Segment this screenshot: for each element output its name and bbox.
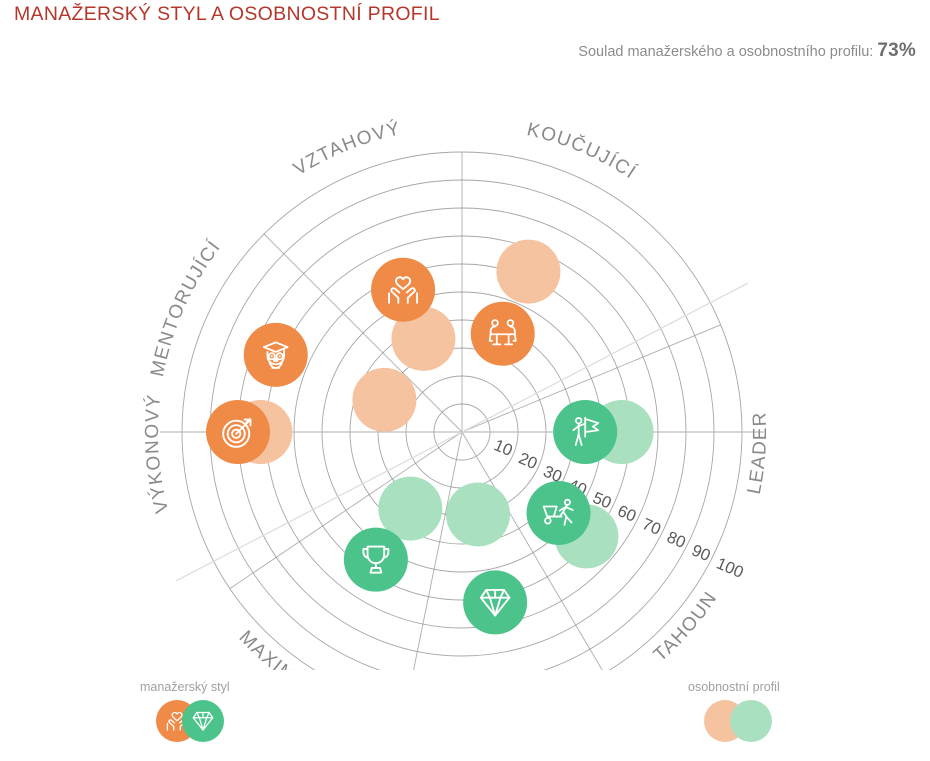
personality-bubble-mentorujc[interactable]	[352, 368, 416, 432]
legend-swatch-personality-green	[730, 700, 772, 742]
managerial-bubble-vkonov[interactable]	[206, 400, 270, 464]
bubble-disc	[527, 481, 591, 545]
radar-axis-label-vztahov: VZTAHOVÝ	[290, 118, 403, 180]
bubble-disc	[344, 528, 408, 592]
managerial-bubble-leader[interactable]	[553, 400, 617, 464]
radar-axis-label-maximalista: MAXIMALISTA	[235, 627, 361, 670]
legend-managerial-swatches	[140, 700, 230, 744]
radar-tick-60: 60	[615, 502, 639, 526]
legend-personality-swatches	[688, 700, 778, 744]
radar-tick-100: 100	[714, 555, 746, 582]
managerial-bubble-tahoun[interactable]	[527, 481, 591, 545]
radar-tick-90: 90	[689, 541, 713, 565]
managerial-bubble-mentorujc[interactable]	[244, 323, 308, 387]
compatibility-score-value: 73%	[877, 40, 916, 61]
radar-tick-80: 80	[664, 528, 688, 552]
radar-chart: LEADERKOUČUJÍCÍVZTAHOVÝMENTORUJÍCÍVÝKONO…	[0, 95, 930, 670]
bubble-disc	[244, 323, 308, 387]
diamond-icon	[190, 708, 216, 734]
radar-axis-label-leader: LEADER	[744, 411, 771, 496]
bubble-disc	[463, 570, 527, 634]
radar-tick-10: 10	[491, 436, 515, 460]
managerial-bubble-vztahov[interactable]	[371, 258, 435, 322]
radar-axis-label-vkonov: VÝKONOVÝ	[142, 393, 173, 515]
page-title: MANAŽERSKÝ STYL A OSOBNOSTNÍ PROFIL	[14, 3, 440, 26]
legend-personality-profile-label: osobnostní profil	[688, 680, 780, 694]
radar-tick-20: 20	[516, 449, 540, 473]
legend-personality-profile: osobnostní profil	[688, 680, 780, 744]
radar-axis-labels: LEADERKOUČUJÍCÍVZTAHOVÝMENTORUJÍCÍVÝKONO…	[142, 118, 771, 670]
radar-axis-label-kouujc: KOUČUJÍCÍ	[525, 119, 640, 184]
radar-chart-svg: LEADERKOUČUJÍCÍVZTAHOVÝMENTORUJÍCÍVÝKONO…	[0, 95, 930, 670]
compatibility-score-label: Soulad manažerského a osobnostního profi…	[578, 44, 873, 60]
personality-bubble-kouujc[interactable]	[496, 240, 560, 304]
managerial-bubble-kouujc[interactable]	[471, 302, 535, 366]
radar-tick-70: 70	[639, 515, 663, 539]
radar-spoke	[406, 432, 462, 670]
managerial-bubble-perfekcionista[interactable]	[463, 570, 527, 634]
compatibility-score: Soulad manažerského a osobnostního profi…	[578, 40, 916, 62]
managerial-bubble-maximalista[interactable]	[344, 528, 408, 592]
legend-swatch-managerial-green	[182, 700, 224, 742]
radar-axis-label-tahoun: TAHOUN	[650, 588, 722, 666]
legend-managerial-style-label: manažerský styl	[140, 680, 230, 694]
radar-axis-label-mentorujc: MENTORUJÍCÍ	[147, 237, 225, 379]
legend-managerial-style: manažerský styl	[140, 680, 230, 744]
personality-bubble-perfekcionista[interactable]	[446, 482, 510, 546]
